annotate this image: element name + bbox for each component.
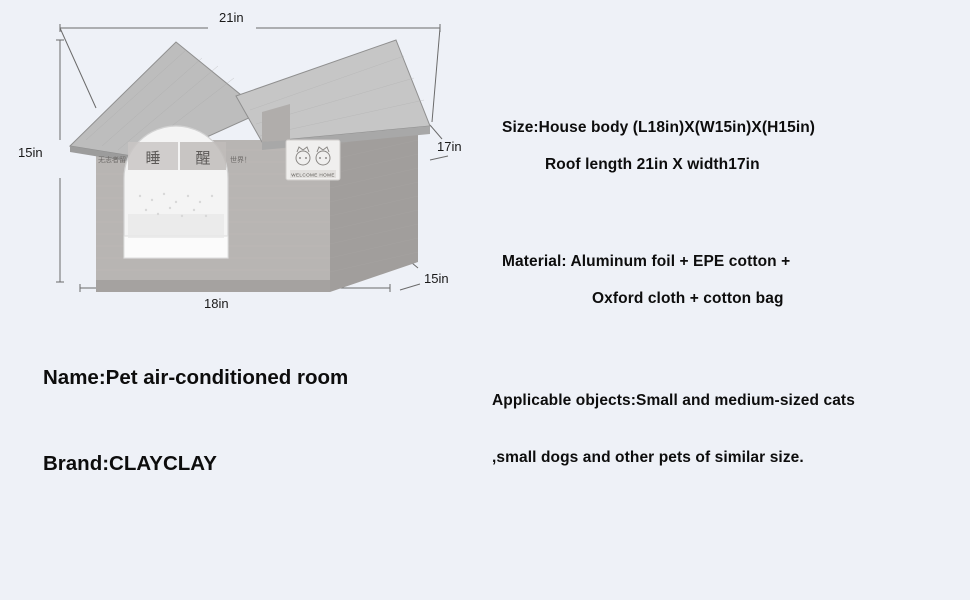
applicable-spec-line-2: ,small dogs and other pets of similar si… xyxy=(492,449,804,467)
dimension-label-roof-width: 17in xyxy=(437,139,462,154)
svg-text:睡: 睡 xyxy=(145,149,160,167)
svg-text:无志者留: 无志者留 xyxy=(98,155,126,164)
material-spec-line-1: Material: Aluminum foil + EPE cotton + xyxy=(502,253,790,271)
size-spec-line-2: Roof length 21in X width17in xyxy=(545,156,760,174)
dimension-label-roof-length: 21in xyxy=(219,10,244,25)
product-illustration: 睡 醒 无志者留 世界！ xyxy=(0,0,480,330)
svg-text:世界！: 世界！ xyxy=(230,155,251,164)
svg-text:WELCOME HOME: WELCOME HOME xyxy=(291,173,335,178)
product-brand-line: Brand:CLAYCLAY xyxy=(43,452,217,476)
product-name-line: Name:Pet air-conditioned room xyxy=(43,366,348,390)
applicable-spec-line-1: Applicable objects:Small and medium-size… xyxy=(492,392,855,410)
dimension-label-length: 18in xyxy=(204,296,229,311)
product-info-page: 睡 醒 无志者留 世界！ xyxy=(0,0,970,600)
size-spec-line-1: Size:House body (L18in)X(W15in)X(H15in) xyxy=(502,119,815,137)
dimension-label-depth: 15in xyxy=(424,271,449,286)
dimension-label-height: 15in xyxy=(18,145,43,160)
material-spec-line-2: Oxford cloth + cotton bag xyxy=(592,290,784,308)
svg-text:醒: 醒 xyxy=(195,149,210,167)
